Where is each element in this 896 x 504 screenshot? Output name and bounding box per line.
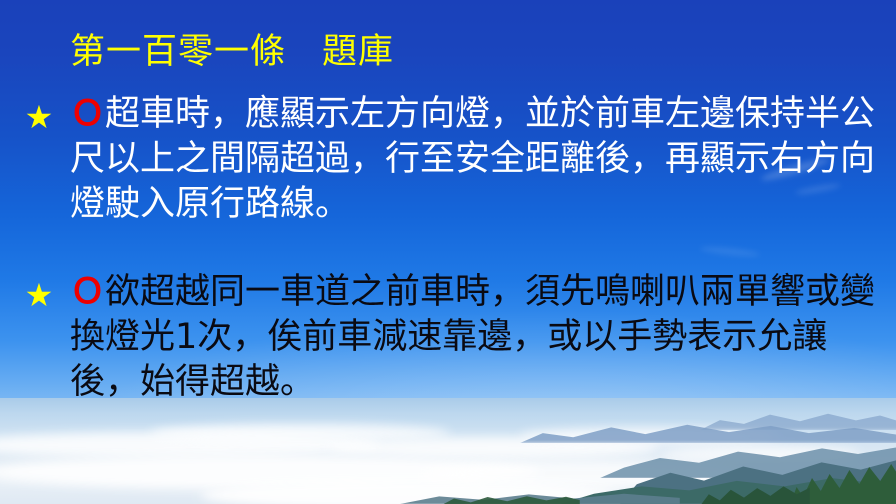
correct-mark-icon: Ｏ [70, 272, 105, 312]
bullet-item-2: ★ Ｏ欲超越同一車道之前車時，須先鳴喇叭兩單響或變換燈光1次，俟前車減速靠邊，或… [22, 270, 882, 405]
presentation-slide: 第一百零一條 題庫 ★ Ｏ超車時，應顯示左方向燈，並於前車左邊保持半公尺以上之間… [0, 0, 896, 504]
slide-title: 第一百零一條 題庫 [70, 30, 394, 74]
bullet-body-1: 超車時，應顯示左方向燈，並於前車左邊保持半公尺以上之間隔超過，行至安全距離後，再… [70, 94, 875, 224]
bullet-body-2: 欲超越同一車道之前車時，須先鳴喇叭兩單響或變換燈光1次，俟前車減速靠邊，或以手勢… [70, 272, 875, 402]
star-icon: ★ [22, 278, 56, 312]
correct-mark-icon: Ｏ [70, 94, 105, 134]
bullet-text-1: Ｏ超車時，應顯示左方向燈，並於前車左邊保持半公尺以上之間隔超過，行至安全距離後，… [70, 92, 882, 227]
bullet-item-1: ★ Ｏ超車時，應顯示左方向燈，並於前車左邊保持半公尺以上之間隔超過，行至安全距離… [22, 92, 882, 227]
star-icon: ★ [22, 100, 56, 134]
bullet-text-2: Ｏ欲超越同一車道之前車時，須先鳴喇叭兩單響或變換燈光1次，俟前車減速靠邊，或以手… [70, 270, 882, 405]
